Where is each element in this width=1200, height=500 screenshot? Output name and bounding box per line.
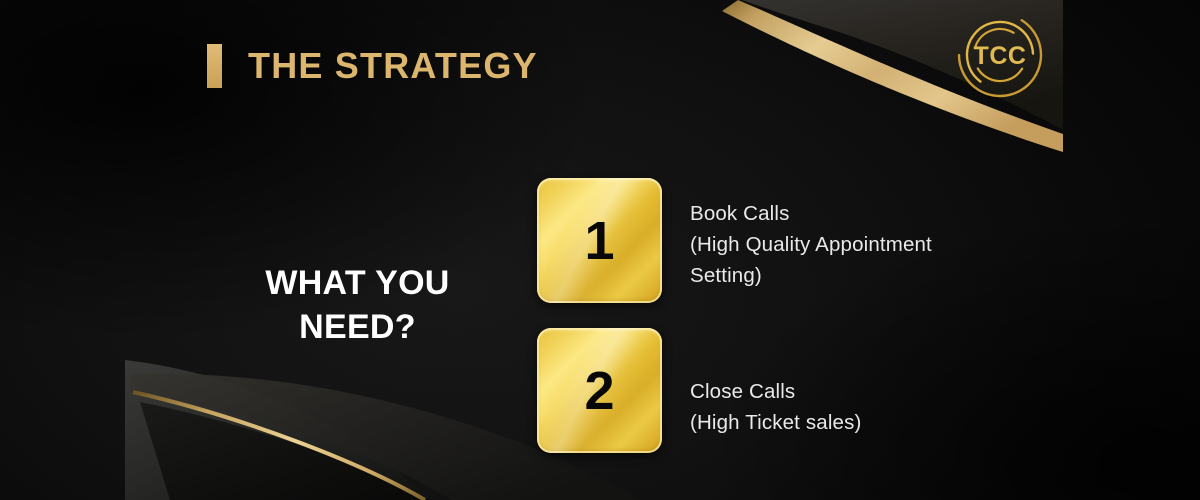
step-text-line: Setting) bbox=[690, 260, 932, 291]
what-you-need-heading: WHAT YOU NEED? bbox=[215, 262, 500, 349]
step-number: 1 bbox=[584, 214, 614, 268]
strategy-slide: TCC THE STRATEGY WHAT YOU NEED? 1 Book C… bbox=[0, 0, 1200, 500]
step-text-line: Close Calls bbox=[690, 376, 861, 407]
page-title: THE STRATEGY bbox=[248, 48, 538, 84]
gold-accent-bar bbox=[207, 44, 222, 88]
step-text-line: (High Ticket sales) bbox=[690, 407, 861, 438]
list-item: 2 Close Calls (High Ticket sales) bbox=[537, 328, 1097, 453]
step-text-line: (High Quality Appointment bbox=[690, 229, 932, 260]
list-item: 1 Book Calls (High Quality Appointment S… bbox=[537, 178, 1097, 303]
slide-header: THE STRATEGY bbox=[207, 44, 538, 88]
step-number: 2 bbox=[584, 364, 614, 418]
heading-line-1: WHAT YOU bbox=[265, 264, 449, 302]
steps-list: 1 Book Calls (High Quality Appointment S… bbox=[537, 178, 1097, 453]
step-number-box-1: 1 bbox=[537, 178, 662, 303]
heading-line-2: NEED? bbox=[215, 306, 500, 350]
step-description-1: Book Calls (High Quality Appointment Set… bbox=[690, 178, 932, 291]
step-text-line: Book Calls bbox=[690, 198, 932, 229]
step-number-box-2: 2 bbox=[537, 328, 662, 453]
step-description-2: Close Calls (High Ticket sales) bbox=[690, 328, 861, 438]
